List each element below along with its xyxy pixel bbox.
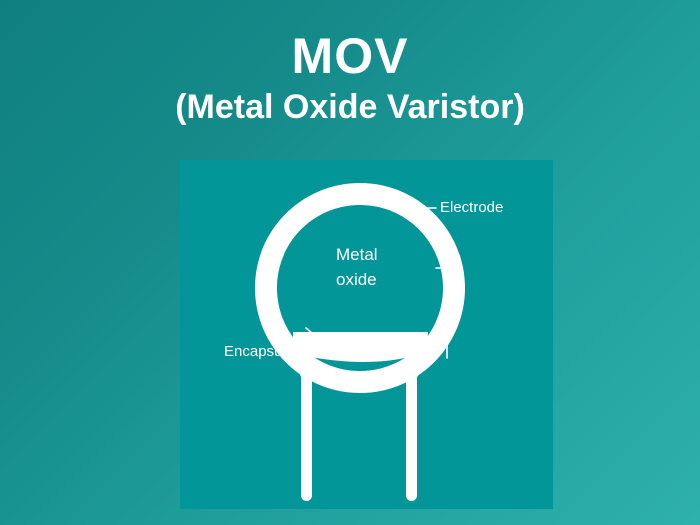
varistor-body-shape [255, 183, 465, 501]
body-material-label-line1: Metal [336, 243, 378, 268]
body-material-label: Metal oxide [336, 243, 378, 292]
title-block: MOV (Metal Oxide Varistor) [0, 30, 700, 126]
diagram-panel: Metal oxide Electrode Electrode Encapsul… [180, 160, 553, 509]
page-subtitle: (Metal Oxide Varistor) [0, 89, 700, 126]
body-material-label-line2: oxide [336, 268, 378, 293]
page-title: MOV [0, 30, 700, 83]
callout-encapsulation: Encapsulatio [224, 344, 310, 360]
mov-infographic: MOV (Metal Oxide Varistor) [0, 0, 700, 525]
callout-electrode-top: Electrode [440, 200, 503, 216]
